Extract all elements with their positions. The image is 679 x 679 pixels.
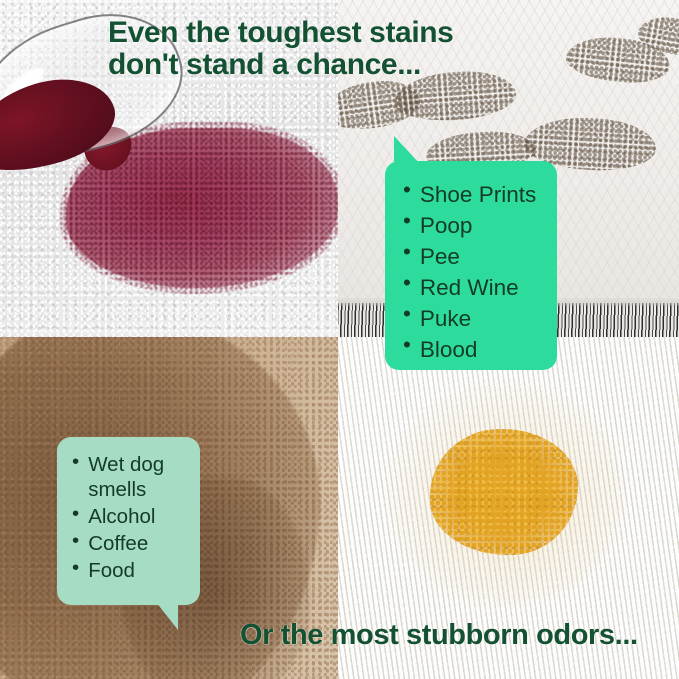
list-item-label: Puke (420, 303, 471, 334)
list-item-label: Pee (420, 241, 460, 272)
list-item: • Food (72, 558, 186, 583)
list-item: • Shoe Prints (403, 179, 539, 210)
bullet-icon: • (72, 452, 79, 473)
list-item: • Alcohol (72, 504, 186, 529)
list-item-label: Poop (420, 210, 473, 241)
list-item-label: Alcohol (88, 504, 155, 529)
bullet-icon: • (403, 210, 411, 233)
speech-bubble-tail-icon (156, 602, 178, 630)
bullet-icon: • (403, 241, 411, 264)
headline-bottom-odors: Or the most stubborn odors... (240, 620, 638, 650)
bullet-icon: • (72, 531, 79, 552)
callout-bubble-stains: • Shoe Prints • Poop • Pee • Red Wine • … (385, 161, 557, 370)
bullet-icon: • (403, 272, 411, 295)
headline-top-stains: Even the toughest stains don't stand a c… (108, 17, 453, 80)
yellow-vomit-stain (430, 429, 578, 555)
list-item-label: Food (88, 558, 135, 583)
list-item: • Poop (403, 210, 539, 241)
list-item-label: Coffee (88, 531, 148, 556)
list-item: • Coffee (72, 531, 186, 556)
list-item-label: Blood (420, 334, 478, 365)
bullet-icon: • (72, 558, 79, 579)
list-item: • Wet dog smells (72, 452, 186, 502)
bullet-icon: • (403, 303, 411, 326)
bullet-icon: • (403, 334, 411, 357)
list-item: • Puke (403, 303, 539, 334)
list-item-label: Wet dog smells (88, 452, 186, 502)
list-item: • Blood (403, 334, 539, 365)
callout-bubble-odors: • Wet dog smells • Alcohol • Coffee • Fo… (57, 437, 200, 605)
list-item: • Red Wine (403, 272, 539, 303)
stains-list: • Shoe Prints • Poop • Pee • Red Wine • … (403, 179, 539, 365)
odors-list: • Wet dog smells • Alcohol • Coffee • Fo… (72, 452, 186, 583)
list-item-label: Shoe Prints (420, 179, 536, 210)
speech-bubble-tail-icon (394, 136, 420, 164)
bullet-icon: • (72, 504, 79, 525)
bullet-icon: • (403, 179, 411, 202)
list-item-label: Red Wine (420, 272, 519, 303)
list-item: • Pee (403, 241, 539, 272)
poster-canvas: Even the toughest stains don't stand a c… (0, 0, 679, 679)
